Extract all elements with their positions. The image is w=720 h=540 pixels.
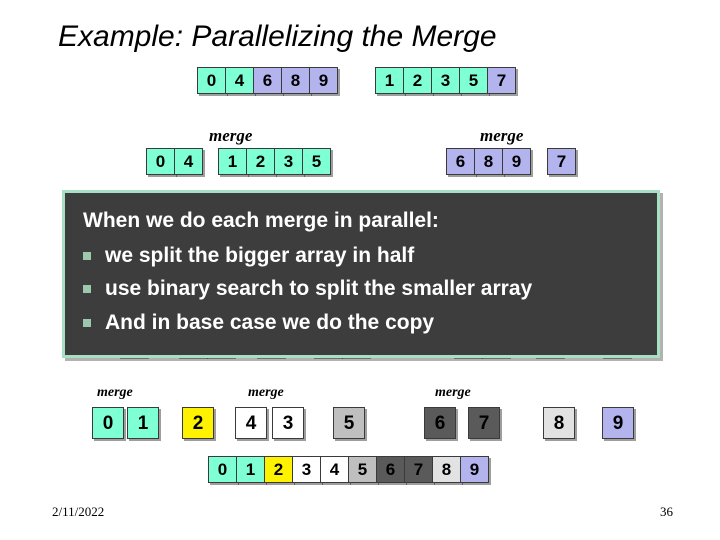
array-cell: 8 xyxy=(474,148,503,175)
merge-label-row4-a: merge xyxy=(97,385,133,401)
footer-page-number: 36 xyxy=(660,504,673,520)
array-cell: 2 xyxy=(264,456,293,483)
merge-label-row2-left: merge xyxy=(209,126,252,146)
array-cell: 1 xyxy=(375,67,404,94)
array-cell: 9 xyxy=(309,67,338,94)
array-cell: 6 xyxy=(446,148,475,175)
square-bullet-icon xyxy=(83,252,91,260)
box-row4-3: 4 xyxy=(235,407,267,439)
array-cell: 9 xyxy=(602,407,634,439)
array-cell: 4 xyxy=(320,456,349,483)
array-cell: 7 xyxy=(404,456,433,483)
array-cell: 5 xyxy=(348,456,377,483)
array-cell: 5 xyxy=(333,407,365,439)
array-cell: 1 xyxy=(236,456,265,483)
array-cell: 0 xyxy=(197,67,226,94)
array-row2-group-b: 1235 xyxy=(218,148,331,175)
slide-canvas: Example: Parallelizing the Merge 04689 1… xyxy=(0,0,720,540)
array-cell: 1 xyxy=(127,407,159,439)
array-row1-group-right: 12357 xyxy=(375,67,516,94)
array-cell: 5 xyxy=(302,148,331,175)
merge-label-row4-c: merge xyxy=(435,385,471,401)
array-cell: 4 xyxy=(174,148,203,175)
array-cell: 8 xyxy=(432,456,461,483)
callout-panel: When we do each merge in parallel: we sp… xyxy=(62,190,660,358)
array-cell: 9 xyxy=(460,456,489,483)
box-row4-2: 2 xyxy=(182,407,214,439)
array-cell: 7 xyxy=(547,148,576,175)
array-cell: 2 xyxy=(403,67,432,94)
box-row4-6: 6 xyxy=(424,407,456,439)
array-cell: 9 xyxy=(502,148,531,175)
array-cell: 3 xyxy=(274,148,303,175)
array-cell: 6 xyxy=(424,407,456,439)
square-bullet-icon xyxy=(83,285,91,293)
callout-bullet-item-2: use binary search to split the smaller a… xyxy=(83,275,639,302)
callout-bullet-text-2: use binary search to split the smaller a… xyxy=(105,275,532,302)
array-cell: 8 xyxy=(543,407,575,439)
merge-label-row4-b: merge xyxy=(248,385,284,401)
array-cell: 2 xyxy=(246,148,275,175)
callout-bullet-text-1: we split the bigger array in half xyxy=(105,242,414,269)
box-row4-0: 0 xyxy=(92,407,124,439)
array-row1-group-left: 04689 xyxy=(197,67,338,94)
array-cell: 6 xyxy=(253,67,282,94)
page-title: Example: Parallelizing the Merge xyxy=(58,20,668,54)
array-cell: 0 xyxy=(92,407,124,439)
array-cell: 3 xyxy=(292,456,321,483)
callout-bullet-item-3: And in base case we do the copy xyxy=(83,309,639,336)
box-row4-5: 5 xyxy=(333,407,365,439)
array-row5-final: 0123456789 xyxy=(208,456,489,483)
array-cell: 8 xyxy=(281,67,310,94)
square-bullet-icon xyxy=(83,319,91,327)
array-row2-group-a: 04 xyxy=(146,148,203,175)
array-cell: 7 xyxy=(468,407,500,439)
array-cell: 3 xyxy=(431,67,460,94)
box-row4-7: 7 xyxy=(468,407,500,439)
merge-label-row2-right: merge xyxy=(480,126,523,146)
array-cell: 5 xyxy=(459,67,488,94)
callout-heading: When we do each merge in parallel: xyxy=(83,209,639,233)
array-cell: 1 xyxy=(218,148,247,175)
box-row4-1: 1 xyxy=(127,407,159,439)
array-cell: 4 xyxy=(225,67,254,94)
box-row4-9: 9 xyxy=(602,407,634,439)
array-cell: 3 xyxy=(272,407,304,439)
box-row4-8: 8 xyxy=(543,407,575,439)
array-cell: 6 xyxy=(376,456,405,483)
callout-content: When we do each merge in parallel: we sp… xyxy=(65,193,657,336)
callout-bullet-item-1: we split the bigger array in half xyxy=(83,242,639,269)
box-row4-4: 3 xyxy=(272,407,304,439)
footer-date: 2/11/2022 xyxy=(52,504,104,520)
callout-bullet-text-3: And in base case we do the copy xyxy=(105,309,434,336)
array-row2-group-c: 689 xyxy=(446,148,531,175)
array-row2-group-d: 7 xyxy=(547,148,576,175)
array-cell: 2 xyxy=(182,407,214,439)
array-cell: 7 xyxy=(487,67,516,94)
array-cell: 0 xyxy=(208,456,237,483)
array-cell: 0 xyxy=(146,148,175,175)
array-cell: 4 xyxy=(235,407,267,439)
